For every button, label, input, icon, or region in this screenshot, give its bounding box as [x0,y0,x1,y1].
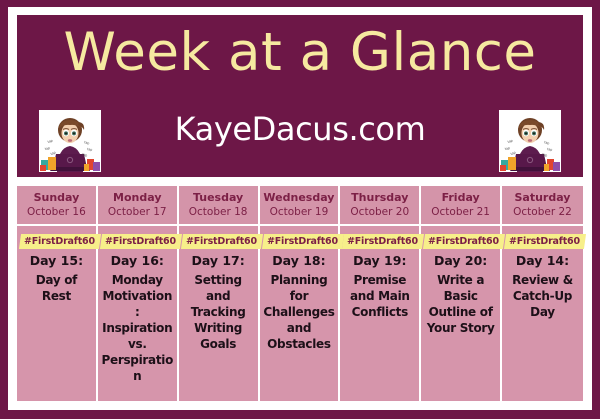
hashtag-badge: #FirstDraft60 [19,234,101,249]
calendar-header-wednesday: Wednesday October 19 [260,186,341,226]
calendar-header-sunday: Sunday October 16 [17,186,98,226]
day-name: Wednesday [262,191,337,205]
hashtag-badge-label: #FirstDraft60 [509,235,580,248]
day-name: Saturday [504,191,581,205]
week-calendar: Sunday October 16 Monday October 17 Tues… [17,177,583,401]
day-number: Day 18: [263,252,336,269]
hashtag-badge-label: #FirstDraft60 [24,235,95,248]
day-date: October 21 [423,205,498,219]
day-number: Day 19: [343,252,416,269]
day-name: Monday [100,191,175,205]
calendar-cell-friday: #FirstDraft60 Day 20: Write a Basic Outl… [421,226,502,401]
day-date: October 19 [262,205,337,219]
poster-inner-frame: Week at a Glance KayeDacus.com [8,7,592,410]
day-date: October 20 [342,205,417,219]
calendar-header-monday: Monday October 17 [98,186,179,226]
calendar-cell-sunday: #FirstDraft60 Day 15: Day of Rest [17,226,98,401]
day-topic: Monday Motivation: Inspiration vs. Persp… [101,272,174,384]
day-number: Day 15: [20,252,93,269]
page-title: Week at a Glance [17,21,583,85]
day-name: Tuesday [181,191,256,205]
day-topic: Premise and Main Conflicts [343,272,416,320]
writer-at-laptop-avatar: tap tap tap tap tap tap [39,110,101,172]
hashtag-badge-label: #FirstDraft60 [186,235,257,248]
day-date: October 16 [19,205,94,219]
calendar-header-tuesday: Tuesday October 18 [179,186,260,226]
hashtag-badge: #FirstDraft60 [100,234,182,249]
hashtag-badge: #FirstDraft60 [423,234,505,249]
day-name: Sunday [19,191,94,205]
day-date: October 22 [504,205,581,219]
calendar-cell-tuesday: #FirstDraft60 Day 17: Setting and Tracki… [179,226,260,401]
hashtag-badge: #FirstDraft60 [181,234,263,249]
writer-at-laptop-avatar: tap tap tap tap tap tap [499,110,561,172]
calendar-header-friday: Friday October 21 [421,186,502,226]
calendar-cell-monday: #FirstDraft60 Day 16: Monday Motivation:… [98,226,179,401]
hashtag-badge-label: #FirstDraft60 [428,235,499,248]
calendar-header-row: Sunday October 16 Monday October 17 Tues… [17,186,583,226]
day-topic: Review & Catch-Up Day [505,272,580,320]
day-name: Thursday [342,191,417,205]
calendar-cell-saturday: #FirstDraft60 Day 14: Review & Catch-Up … [502,226,583,401]
hashtag-badge: #FirstDraft60 [261,234,343,249]
day-number: Day 20: [424,252,497,269]
header-banner: Week at a Glance KayeDacus.com [17,15,583,177]
calendar-header-saturday: Saturday October 22 [502,186,583,226]
day-name: Friday [423,191,498,205]
day-topic: Setting and Tracking Writing Goals [182,272,255,352]
day-topic: Planning for Challenges and Obstacles [263,272,336,352]
day-number: Day 16: [101,252,174,269]
day-date: October 18 [181,205,256,219]
day-date: October 17 [100,205,175,219]
hashtag-badge: #FirstDraft60 [504,234,586,249]
calendar-cell-thursday: #FirstDraft60 Day 19: Premise and Main C… [340,226,421,401]
hashtag-badge: #FirstDraft60 [342,234,424,249]
hashtag-badge-label: #FirstDraft60 [267,235,338,248]
calendar-header-thursday: Thursday October 20 [340,186,421,226]
calendar-body-row: #FirstDraft60 Day 15: Day of Rest #First… [17,226,583,401]
day-number: Day 17: [182,252,255,269]
calendar-cell-wednesday: #FirstDraft60 Day 18: Planning for Chall… [260,226,341,401]
day-topic: Day of Rest [20,272,93,304]
day-topic: Write a Basic Outline of Your Story [424,272,497,336]
hashtag-badge-label: #FirstDraft60 [347,235,418,248]
hashtag-badge-label: #FirstDraft60 [105,235,176,248]
day-number: Day 14: [505,252,580,269]
poster: Week at a Glance KayeDacus.com [0,0,600,419]
